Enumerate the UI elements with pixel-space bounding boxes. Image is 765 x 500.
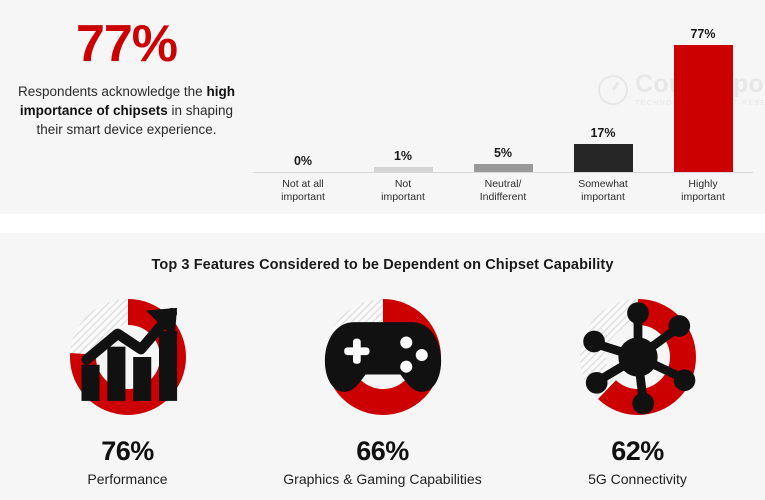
importance-bar-chart: 0%1%5%17%77% Not at allimportantNotimpor… — [253, 6, 753, 208]
bar-value-label: 17% — [590, 126, 615, 140]
donut-value: 62% — [611, 436, 664, 467]
bar-rect — [474, 164, 533, 172]
bar-category-labels: Not at allimportantNotimportantNeutral/I… — [253, 178, 753, 205]
caption-line-1: Respondents — [18, 84, 98, 99]
bar-column: 17% — [553, 6, 653, 172]
key-stat-number: 77% — [14, 18, 239, 70]
donut-label: 5G Connectivity — [588, 471, 687, 487]
caption-bold-2: chipsets — [113, 103, 168, 118]
caption-line-4: their smart device — [36, 122, 143, 137]
bar-value-label: 0% — [294, 154, 312, 168]
donut-value: 66% — [356, 436, 409, 467]
bar-category-label: Highlyimportant — [653, 178, 753, 205]
donut-label: Graphics & Gaming Capabilities — [283, 471, 481, 487]
donut-value: 76% — [101, 436, 154, 467]
bar-value-label: 5% — [494, 146, 512, 160]
section-title: Top 3 Features Considered to be Dependen… — [0, 257, 765, 273]
caption-line-2: acknowledge the — [101, 84, 202, 99]
donut-chart — [66, 295, 190, 419]
donut-item: 66%Graphics & Gaming Capabilities — [255, 295, 510, 487]
bar-rect — [574, 144, 633, 172]
bar-axis-line — [253, 172, 753, 173]
caption-line-5: experience. — [147, 122, 217, 137]
bar-category-label: Neutral/Indifferent — [453, 178, 553, 205]
key-stat-block: 77% Respondents acknowledge the high imp… — [14, 18, 239, 139]
bar-category-label: Not at allimportant — [253, 178, 353, 205]
bar-column: 1% — [353, 6, 453, 172]
infographic-root: Counterpoint TECHNOLOGY MARKET RESEARCH … — [0, 0, 765, 500]
bar-column: 77% — [653, 6, 753, 172]
donut-label: Performance — [87, 471, 167, 487]
donut-chart — [321, 295, 445, 419]
key-stat-caption: Respondents acknowledge the high importa… — [14, 82, 239, 139]
caption-line-3: in shaping — [172, 103, 234, 118]
bar-category-label: Somewhatimportant — [553, 178, 653, 205]
donut-row: 76%Performance66%Graphics & Gaming Capab… — [0, 295, 765, 487]
donut-item: 62%5G Connectivity — [510, 295, 765, 487]
bar-plot-area: 0%1%5%17%77% — [253, 6, 753, 172]
bar-rect — [674, 45, 733, 172]
donut-chart — [576, 295, 700, 419]
bar-value-label: 77% — [690, 27, 715, 41]
bottom-panel: Counterpoint TECHNOLOGY MARKET RESEARCH … — [0, 233, 765, 500]
top-panel: Counterpoint TECHNOLOGY MARKET RESEARCH … — [0, 0, 765, 214]
bar-column: 0% — [253, 6, 353, 172]
bar-column: 5% — [453, 6, 553, 172]
bar-value-label: 1% — [394, 149, 412, 163]
bar-category-label: Notimportant — [353, 178, 453, 205]
donut-item: 76%Performance — [0, 295, 255, 487]
